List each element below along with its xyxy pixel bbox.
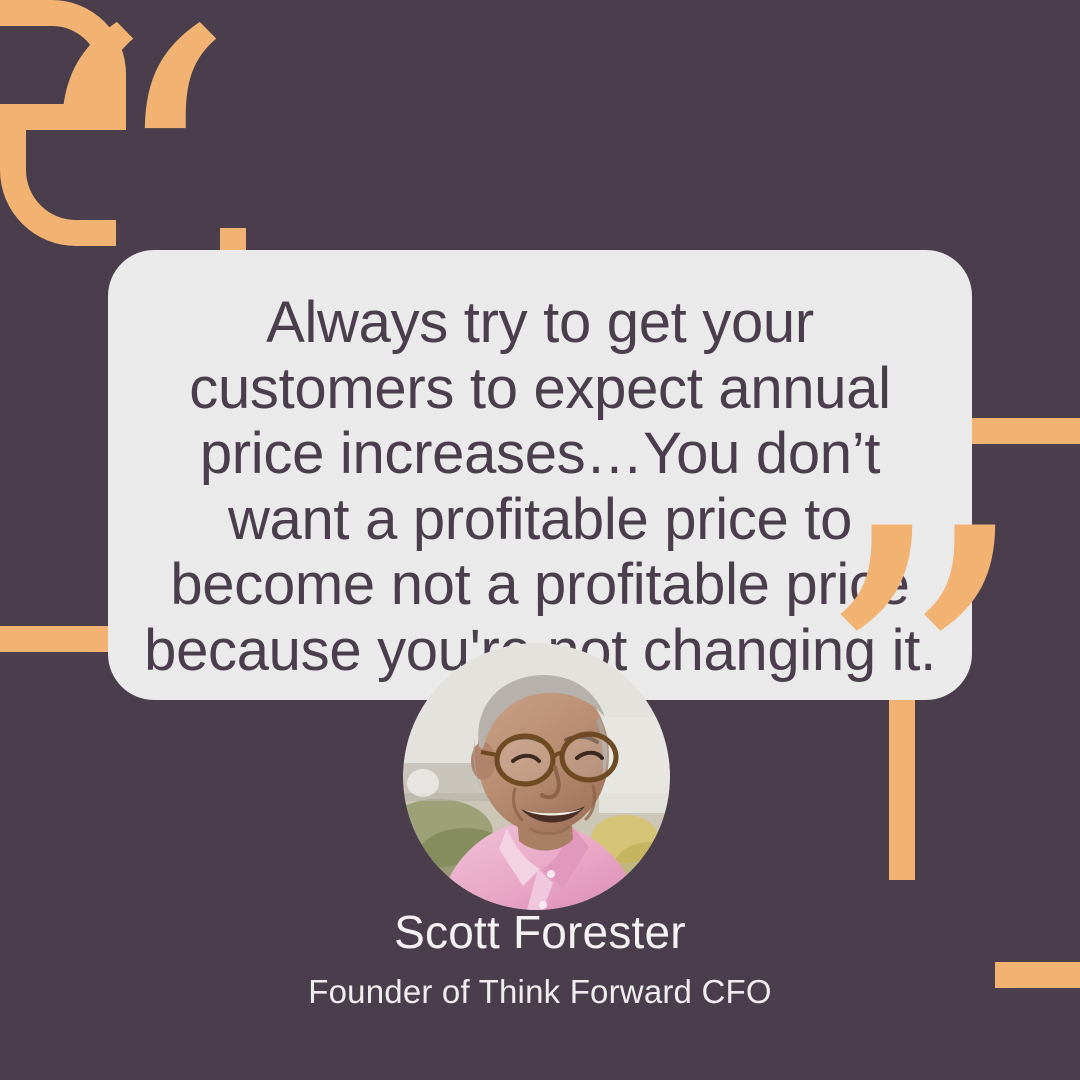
avatar [403, 643, 670, 910]
quote-graphic: “ Always try to get your customers to ex… [0, 0, 1080, 1080]
avatar-photo [403, 643, 670, 910]
decorative-line-left-bar [0, 626, 118, 652]
author-name: Scott Forester [0, 905, 1080, 959]
author-title: Founder of Think Forward CFO [0, 973, 1080, 1011]
close-quote-icon: ” [810, 475, 1024, 905]
attribution: Scott Forester Founder of Think Forward … [0, 905, 1080, 1011]
